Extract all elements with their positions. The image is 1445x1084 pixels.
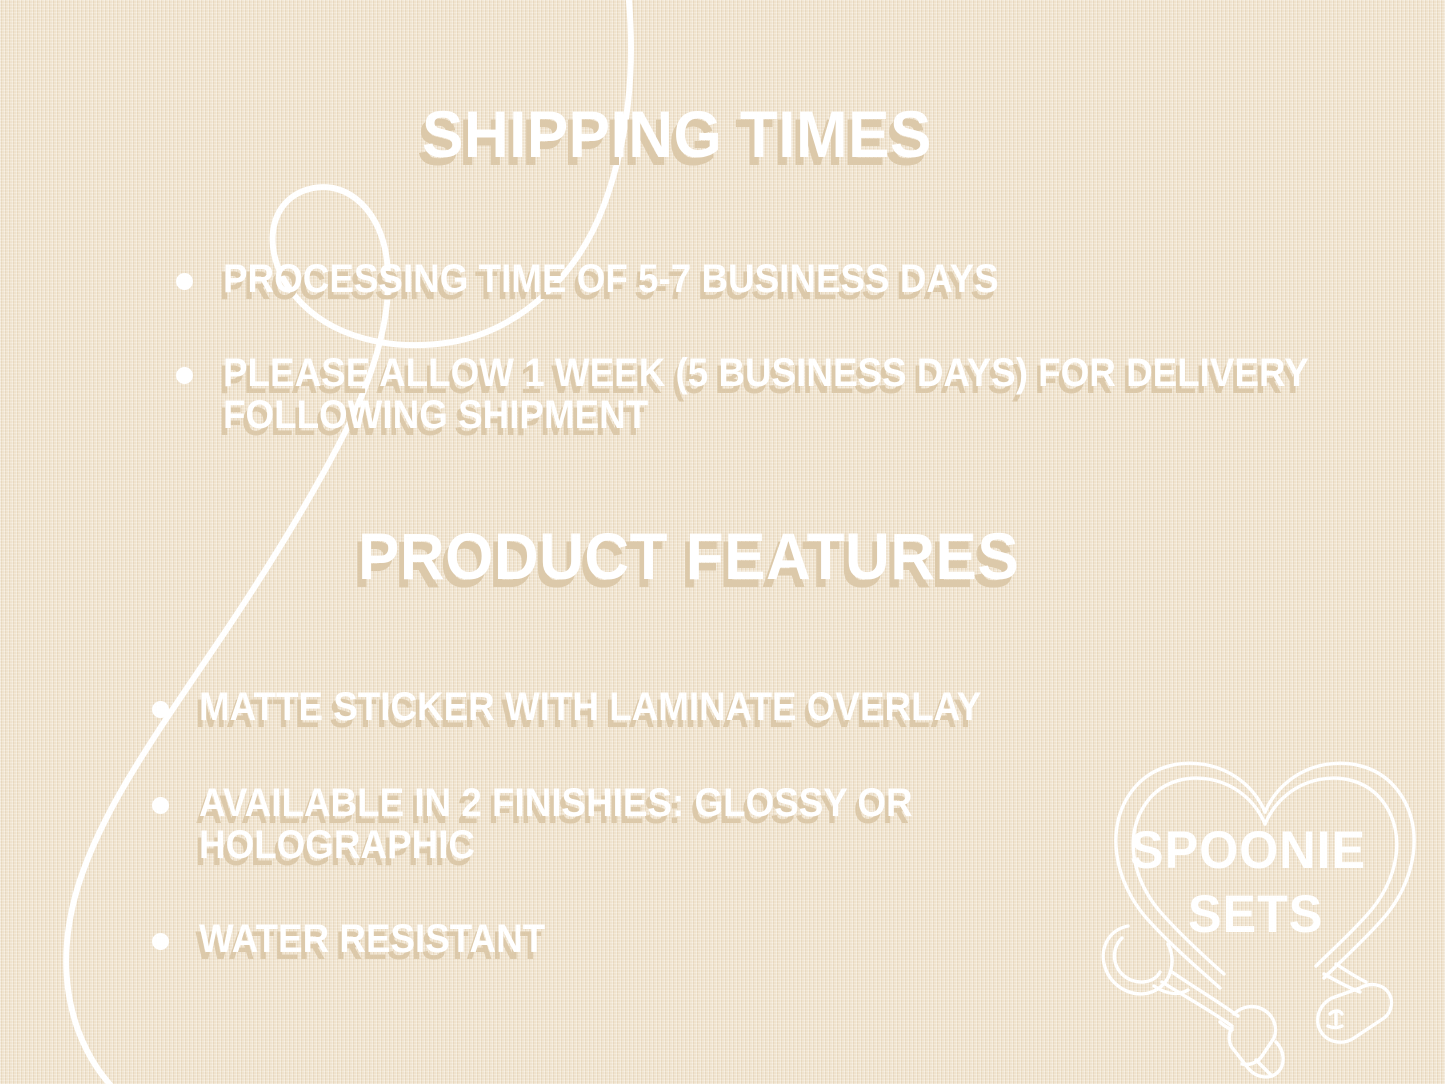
product-bullet-item-1: MATTE STICKER WITH LAMINATE OVERLAY: [152, 686, 1049, 728]
logo-text-line-2: SETS: [1188, 884, 1323, 945]
shipping-bullet-item-2: PLEASE ALLOW 1 WEEK (5 BUSINESS DAYS) FO…: [176, 352, 1445, 437]
product-features-heading: PRODUCT FEATURES: [358, 518, 1019, 594]
product-bullet-text-2: AVAILABLE IN 2 FINISHIES: GLOSSY OR HOLO…: [199, 782, 1137, 867]
bullet-dot-icon: [152, 933, 169, 950]
product-bullet-text-3: WATER RESISTANT: [199, 918, 545, 960]
shipping-bullet-text-2: PLEASE ALLOW 1 WEEK (5 BUSINESS DAYS) FO…: [223, 352, 1364, 437]
product-bullet-item-2: AVAILABLE IN 2 FINISHIES: GLOSSY OR HOLO…: [152, 782, 1219, 867]
product-bullet-item-3: WATER RESISTANT: [152, 918, 575, 960]
bullet-dot-icon: [176, 367, 193, 384]
spoonie-sets-logo: SPOONIE SETS: [1092, 738, 1445, 1084]
bullet-dot-icon: [152, 701, 169, 718]
shipping-bullet-item-1: PROCESSING TIME OF 5-7 BUSINESS DAYS: [176, 258, 1066, 300]
shipping-times-heading: SHIPPING TIMES: [422, 96, 932, 172]
product-bullet-text-1: MATTE STICKER WITH LAMINATE OVERLAY: [199, 686, 981, 728]
bullet-dot-icon: [152, 797, 169, 814]
poster-canvas: SHIPPING TIMES PROCESSING TIME OF 5-7 BU…: [0, 0, 1445, 1084]
shipping-bullet-text-1: PROCESSING TIME OF 5-7 BUSINESS DAYS: [223, 258, 999, 300]
logo-text-line-1: SPOONIE: [1130, 820, 1366, 881]
bullet-dot-icon: [176, 273, 193, 290]
